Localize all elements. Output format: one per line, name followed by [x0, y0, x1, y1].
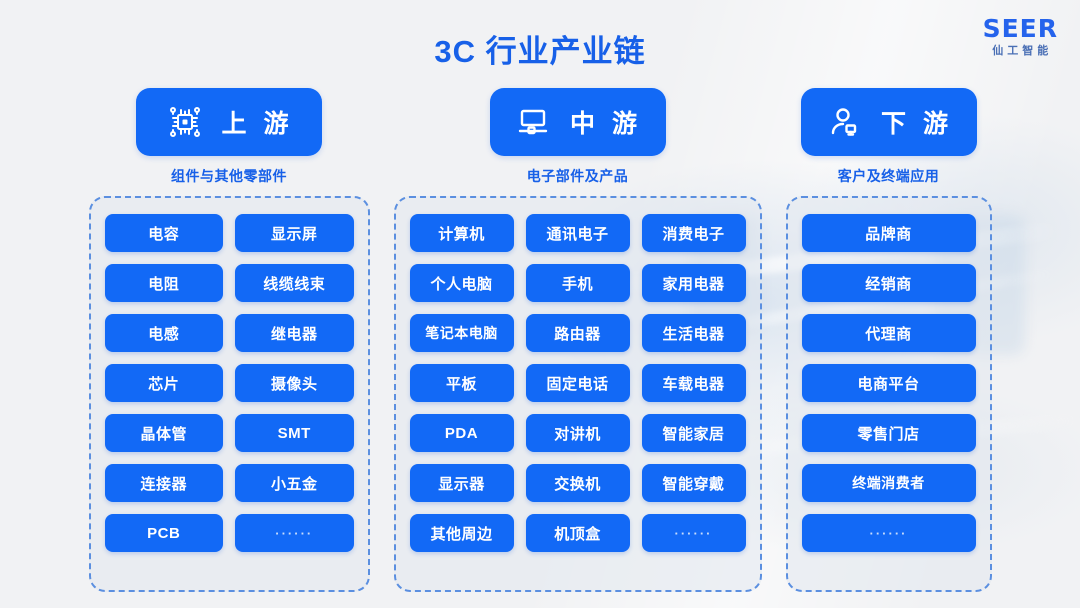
item-pill[interactable]: 电容	[105, 214, 224, 252]
item-pill[interactable]: 通讯电子	[526, 214, 630, 252]
item-pill[interactable]: 消费电子	[642, 214, 746, 252]
item-pill[interactable]: 其他周边	[410, 514, 514, 552]
column-downstream: 下 游 客户及终端应用 品牌商经销商代理商电商平台零售门店终端消费者······	[786, 88, 992, 592]
item-pill[interactable]: 生活电器	[642, 314, 746, 352]
column-subtitle-downstream: 客户及终端应用	[786, 166, 992, 186]
item-pill[interactable]: ······	[235, 514, 354, 552]
panel-midstream: 计算机通讯电子消费电子个人电脑手机家用电器笔记本电脑路由器生活电器平板固定电话车…	[394, 196, 762, 592]
item-pill[interactable]: 智能穿戴	[642, 464, 746, 502]
item-pill[interactable]: 终端消费者	[802, 464, 976, 502]
item-pill[interactable]: 交换机	[526, 464, 630, 502]
item-pill[interactable]: PDA	[410, 414, 514, 452]
item-pill[interactable]: 电感	[105, 314, 224, 352]
item-pill[interactable]: 继电器	[235, 314, 354, 352]
column-midstream: 中 游 电子部件及产品 计算机通讯电子消费电子个人电脑手机家用电器笔记本电脑路由…	[394, 88, 762, 592]
item-pill[interactable]: SMT	[235, 414, 354, 452]
column-label-midstream: 中 游	[567, 104, 642, 140]
item-pill[interactable]: 笔记本电脑	[410, 314, 514, 352]
item-pill[interactable]: 个人电脑	[410, 264, 514, 302]
column-label-upstream: 上 游	[219, 104, 294, 140]
chip-circuit-icon	[165, 102, 205, 142]
column-header-downstream[interactable]: 下 游	[801, 88, 977, 156]
item-pill[interactable]: 机顶盒	[526, 514, 630, 552]
column-upstream: 上 游 组件与其他零部件 电容显示屏电阻线缆线束电感继电器芯片摄像头晶体管SMT…	[89, 88, 370, 592]
panel-downstream: 品牌商经销商代理商电商平台零售门店终端消费者······	[786, 196, 992, 592]
item-pill[interactable]: ······	[642, 514, 746, 552]
item-pill[interactable]: 电阻	[105, 264, 224, 302]
item-pill[interactable]: 平板	[410, 364, 514, 402]
supply-chain-columns: 上 游 组件与其他零部件 电容显示屏电阻线缆线束电感继电器芯片摄像头晶体管SMT…	[0, 88, 1080, 592]
monitor-icon	[513, 102, 553, 142]
item-grid-downstream: 品牌商经销商代理商电商平台零售门店终端消费者······	[802, 214, 976, 552]
item-pill[interactable]: 显示屏	[235, 214, 354, 252]
item-pill[interactable]: 小五金	[235, 464, 354, 502]
item-pill[interactable]: 固定电话	[526, 364, 630, 402]
item-pill[interactable]: 手机	[526, 264, 630, 302]
item-pill[interactable]: 经销商	[802, 264, 976, 302]
item-pill[interactable]: 摄像头	[235, 364, 354, 402]
item-pill[interactable]: 零售门店	[802, 414, 976, 452]
item-pill[interactable]: 对讲机	[526, 414, 630, 452]
item-pill[interactable]: 智能家居	[642, 414, 746, 452]
item-pill[interactable]: PCB	[105, 514, 224, 552]
item-pill[interactable]: ······	[802, 514, 976, 552]
item-pill[interactable]: 芯片	[105, 364, 224, 402]
item-pill[interactable]: 代理商	[802, 314, 976, 352]
item-pill[interactable]: 车载电器	[642, 364, 746, 402]
item-grid-midstream: 计算机通讯电子消费电子个人电脑手机家用电器笔记本电脑路由器生活电器平板固定电话车…	[410, 214, 746, 552]
user-terminal-icon	[824, 102, 864, 142]
item-pill[interactable]: 线缆线束	[235, 264, 354, 302]
panel-upstream: 电容显示屏电阻线缆线束电感继电器芯片摄像头晶体管SMT连接器小五金PCB····…	[89, 196, 370, 592]
item-pill[interactable]: 品牌商	[802, 214, 976, 252]
column-header-upstream[interactable]: 上 游	[136, 88, 322, 156]
item-pill[interactable]: 路由器	[526, 314, 630, 352]
column-subtitle-upstream: 组件与其他零部件	[89, 166, 370, 186]
column-header-midstream[interactable]: 中 游	[490, 88, 666, 156]
item-grid-upstream: 电容显示屏电阻线缆线束电感继电器芯片摄像头晶体管SMT连接器小五金PCB····…	[105, 214, 354, 552]
column-label-downstream: 下 游	[878, 104, 953, 140]
column-subtitle-midstream: 电子部件及产品	[394, 166, 762, 186]
item-pill[interactable]: 家用电器	[642, 264, 746, 302]
item-pill[interactable]: 电商平台	[802, 364, 976, 402]
page-title: 3C 行业产业链	[0, 26, 1080, 71]
item-pill[interactable]: 显示器	[410, 464, 514, 502]
item-pill[interactable]: 晶体管	[105, 414, 224, 452]
item-pill[interactable]: 计算机	[410, 214, 514, 252]
item-pill[interactable]: 连接器	[105, 464, 224, 502]
